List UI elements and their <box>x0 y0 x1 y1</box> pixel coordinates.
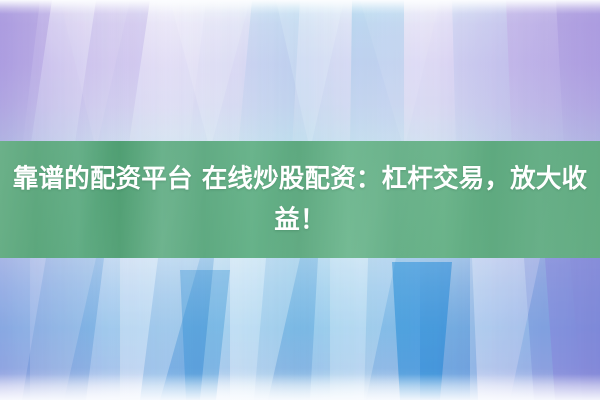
bottom-white-fade <box>0 374 600 400</box>
headline-band: 靠谱的配资平台 在线炒股配资：杠杆交易，放大收益！ <box>0 141 600 258</box>
top-white-fade <box>0 0 600 14</box>
promo-banner: 靠谱的配资平台 在线炒股配资：杠杆交易，放大收益！ <box>0 0 600 400</box>
banner-headline: 靠谱的配资平台 在线炒股配资：杠杆交易，放大收益！ <box>3 159 597 241</box>
